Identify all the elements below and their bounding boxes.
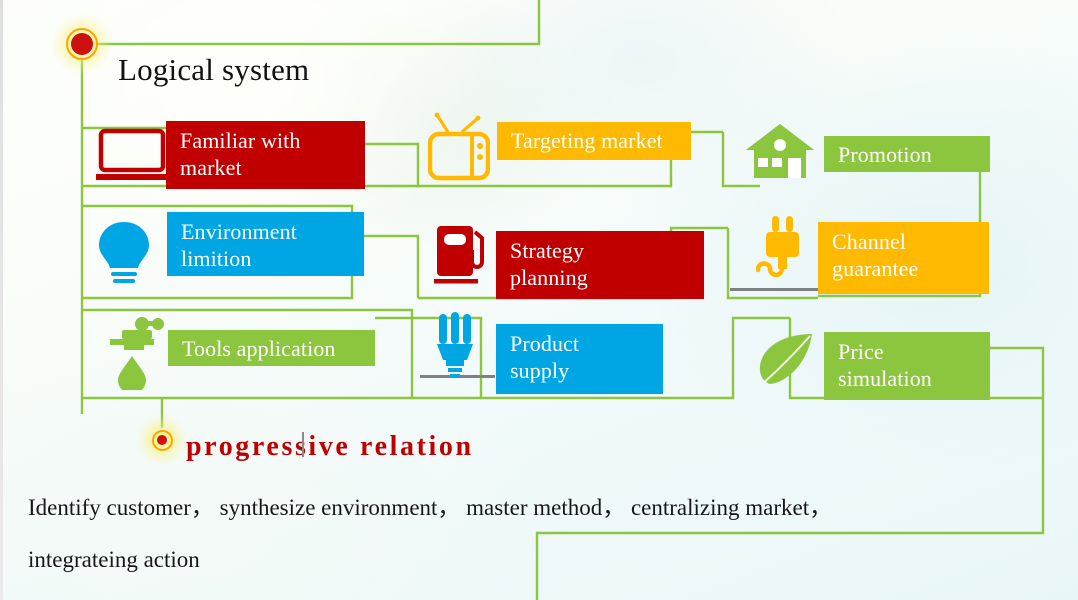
box-channel-line1: Channel	[832, 229, 977, 256]
house-icon	[744, 122, 816, 185]
text-caret	[302, 432, 304, 457]
box-environment-limition[interactable]: Environment limition	[167, 212, 364, 276]
progressive-relation-label: progressive relation	[186, 431, 474, 463]
slide-canvas: Familiar with market Targeting market Pr…	[0, 0, 1078, 600]
box-promotion[interactable]: Promotion	[824, 136, 990, 172]
box-product-supply[interactable]: Product supply	[496, 324, 663, 394]
box-environment-line2: limition	[181, 246, 352, 273]
box-tools-application[interactable]: Tools application	[168, 330, 375, 366]
lightbulb-icon	[96, 220, 152, 291]
box-strategy-line1: Strategy	[510, 238, 692, 265]
box-price-line1: Price	[838, 339, 978, 366]
box-environment-line1: Environment	[181, 219, 352, 246]
progressive-node[interactable]	[136, 414, 188, 466]
page-title: Logical system	[118, 52, 309, 88]
box-familiar-with-market[interactable]: Familiar with market	[166, 121, 365, 189]
cfl-bulb-icon	[430, 312, 482, 387]
footer-line-1: Identify customer， synthesize environmen…	[28, 482, 832, 534]
root-node[interactable]	[51, 13, 113, 75]
root-node-dot	[71, 33, 93, 55]
fuel-pump-icon	[434, 224, 490, 291]
box-product-line1: Product	[510, 331, 651, 358]
box-strategy-planning[interactable]: Strategy planning	[496, 231, 704, 299]
box-targeting-label: Targeting market	[511, 128, 679, 155]
progressive-node-dot	[157, 435, 167, 445]
box-channel-guarantee[interactable]: Channel guarantee	[818, 222, 989, 294]
footer-line-2: integrateing action	[28, 534, 200, 586]
box-tools-label: Tools application	[182, 336, 363, 363]
box-targeting-market[interactable]: Targeting market	[497, 122, 691, 160]
power-plug-icon	[756, 216, 812, 293]
box-channel-line2: guarantee	[832, 256, 977, 283]
box-promotion-label: Promotion	[838, 142, 978, 169]
leaf-icon	[754, 332, 816, 395]
box-price-simulation[interactable]: Price simulation	[824, 332, 990, 400]
laptop-icon	[96, 128, 172, 189]
box-familiar-line2: market	[180, 155, 353, 182]
box-product-line2: supply	[510, 358, 651, 385]
box-familiar-line1: Familiar with	[180, 128, 353, 155]
television-icon	[428, 112, 490, 187]
box-price-line2: simulation	[838, 366, 978, 393]
faucet-drop-icon	[104, 316, 174, 395]
box-strategy-line2: planning	[510, 265, 692, 292]
